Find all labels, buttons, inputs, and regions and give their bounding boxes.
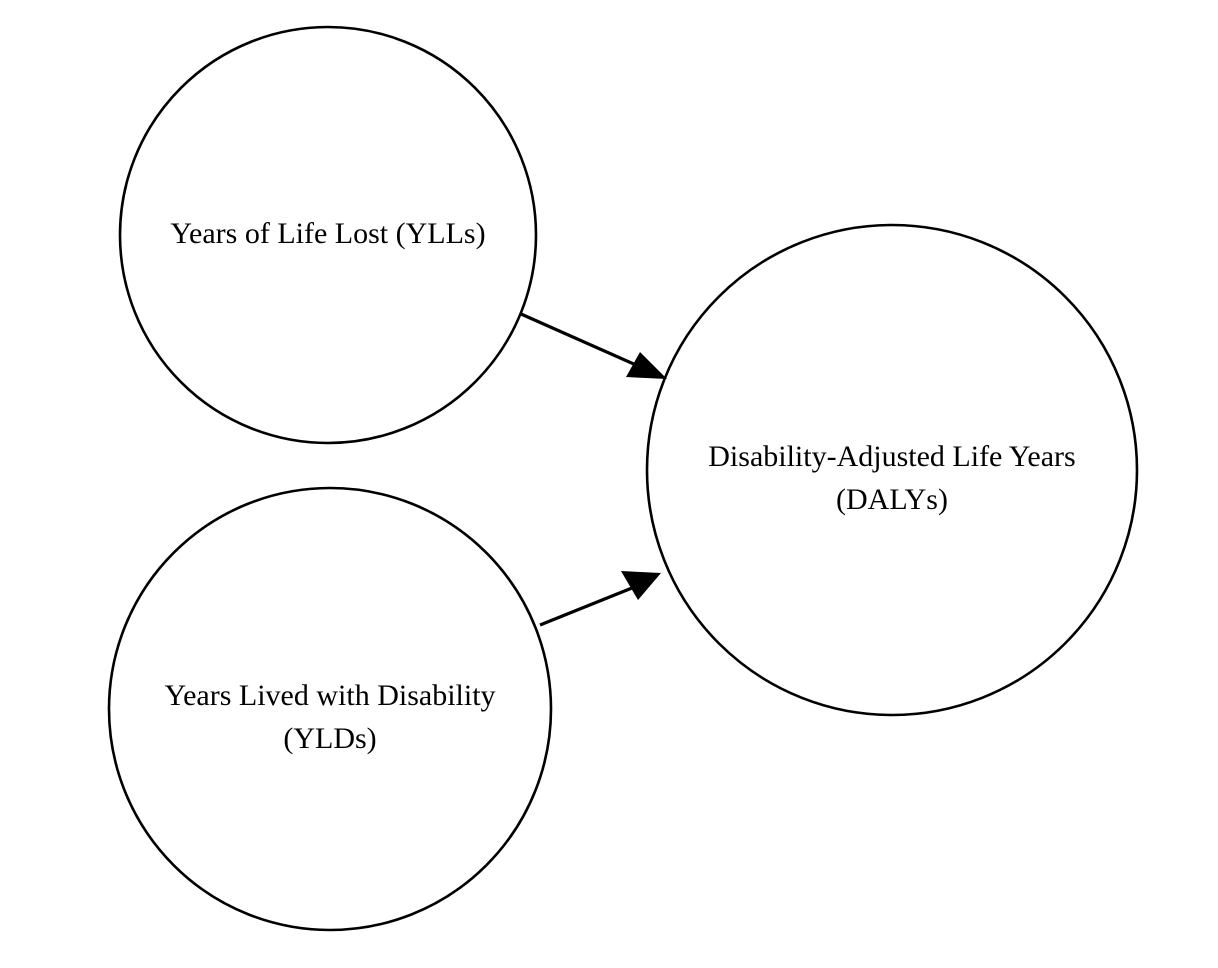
edge-ylds-to-dalys-arrowhead (621, 571, 661, 600)
node-dalys-label-line-1: Disability-Adjusted Life Years (708, 440, 1075, 473)
diagram-canvas: Years of Life Lost (YLLs) Years Lived wi… (0, 0, 1218, 968)
node-ylds[interactable]: Years Lived with Disability (YLDs) (109, 488, 551, 930)
node-ylds-label-line-1: Years Lived with Disability (164, 679, 495, 712)
edge-ylds-to-dalys-line (540, 584, 642, 625)
edge-ylls-to-dalys-line (521, 314, 645, 369)
node-ylds-label-line-2: (YLDs) (283, 722, 376, 755)
node-ylls[interactable]: Years of Life Lost (YLLs) (120, 27, 536, 443)
edge-ylls-to-dalys-arrowhead (626, 352, 667, 379)
node-dalys[interactable]: Disability-Adjusted Life Years (DALYs) (647, 225, 1137, 715)
diagram-svg: Years of Life Lost (YLLs) Years Lived wi… (0, 0, 1218, 968)
edge-ylds-to-dalys[interactable] (540, 571, 661, 625)
edge-ylls-to-dalys[interactable] (521, 314, 667, 379)
node-ylls-label: Years of Life Lost (YLLs) (170, 217, 485, 250)
node-dalys-label-line-2: (DALYs) (836, 483, 948, 516)
